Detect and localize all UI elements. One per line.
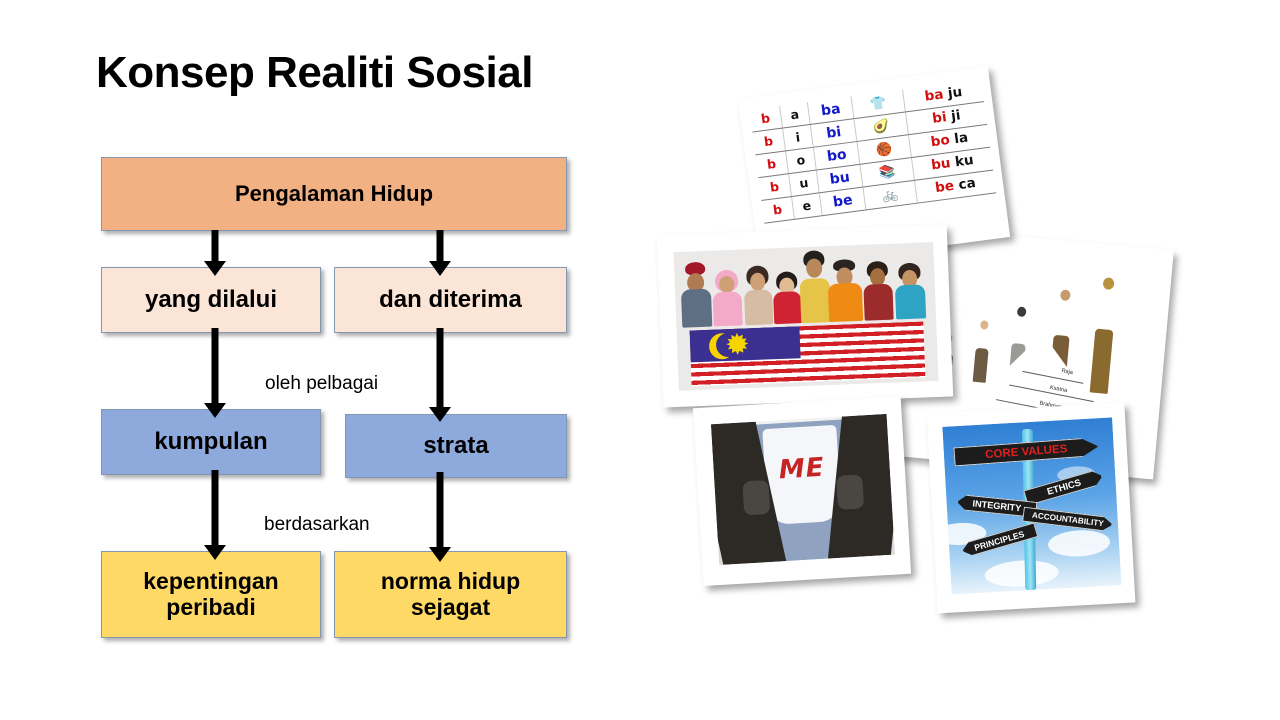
arrow-kumpulan-to-kepentingan <box>204 470 226 560</box>
flow-box-label: strata <box>423 433 488 460</box>
flow-box-label: kumpulan <box>154 429 267 456</box>
word-syllable: bu <box>930 155 951 173</box>
sky-background: CORE VALUES ETHICS INTEGRITY ACCOUNTABIL… <box>942 417 1121 594</box>
flow-box-yang-dilalui[interactable]: yang dilalui <box>101 267 321 333</box>
person-figure <box>827 259 863 322</box>
strata-figure <box>964 319 1001 384</box>
arrow-pengalaman-to-danditerima <box>429 230 451 276</box>
word-syllable: bo <box>930 132 951 150</box>
photo-collage: b a ba 👕 ba ju b i bi 🥑 bi ji b o bo <box>640 60 1280 660</box>
word-rest: ji <box>950 108 961 125</box>
flow-box-norma-hidup-sejagat[interactable]: norma hidup sejagat <box>334 551 567 638</box>
arrow-yangdilalui-to-kumpulan <box>204 328 226 418</box>
photo-card-malaysia-flag-group[interactable] <box>657 224 953 407</box>
person-figure <box>892 260 928 319</box>
flow-box-label: norma hidup sejagat <box>368 569 533 621</box>
cell-vowel: e <box>791 193 822 219</box>
flow-box-kumpulan[interactable]: kumpulan <box>101 409 321 475</box>
word-syllable: ba <box>924 87 945 105</box>
flowchart: Pengalaman Hidup yang dilalui dan diteri… <box>0 0 620 720</box>
flow-box-dan-diterima[interactable]: dan diterima <box>334 267 567 333</box>
person-figure <box>679 265 713 328</box>
arrow-danditerima-to-strata <box>429 328 451 422</box>
malaysia-flag-group-image <box>673 242 938 391</box>
connector-label-berdasarkan: berdasarkan <box>261 514 373 536</box>
photo-card-me-shirt[interactable]: ME <box>693 396 911 586</box>
flag-canton <box>689 326 800 363</box>
person-figure <box>861 260 894 321</box>
flag-scene <box>673 242 938 391</box>
arrow-pengalaman-to-yangdilalui <box>204 230 226 276</box>
flow-box-pengalaman-hidup[interactable]: Pengalaman Hidup <box>101 157 567 231</box>
flow-box-label: yang dilalui <box>145 287 277 314</box>
word-rest: ju <box>947 84 963 102</box>
hand-right <box>836 475 864 510</box>
flow-box-label: dan diterima <box>379 287 522 314</box>
cell-consonant: b <box>761 197 794 224</box>
cell-syllable: be <box>819 187 866 216</box>
flow-box-label: kepentingan peribadi <box>131 569 291 621</box>
person-figure <box>711 267 744 326</box>
strata-figure <box>1081 276 1127 395</box>
people-row <box>674 246 937 328</box>
flow-box-strata[interactable]: strata <box>345 414 567 478</box>
me-scene: ME <box>711 414 895 565</box>
malaysian-flag <box>689 321 925 386</box>
hand-left <box>743 480 771 515</box>
word-syllable: bi <box>931 109 947 127</box>
word-syllable: be <box>934 178 955 196</box>
word-rest: ca <box>958 175 977 193</box>
word-rest: la <box>953 130 969 148</box>
cloud-icon <box>984 558 1059 588</box>
word-rest: ku <box>954 152 975 170</box>
connector-label-oleh-pelbagai: oleh pelbagai <box>262 373 381 395</box>
photo-card-core-values-signpost[interactable]: CORE VALUES ETHICS INTEGRITY ACCOUNTABIL… <box>927 403 1136 614</box>
arrow-strata-to-norma <box>429 472 451 562</box>
syllable-table: b a ba 👕 ba ju b i bi 🥑 bi ji b o bo <box>749 79 996 224</box>
flow-box-label: Pengalaman Hidup <box>235 182 433 207</box>
me-shirt-image: ME <box>711 414 895 565</box>
flow-box-kepentingan-peribadi[interactable]: kepentingan peribadi <box>101 551 321 638</box>
cloud-icon <box>1047 529 1110 558</box>
core-values-signpost-image: CORE VALUES ETHICS INTEGRITY ACCOUNTABIL… <box>942 417 1121 594</box>
